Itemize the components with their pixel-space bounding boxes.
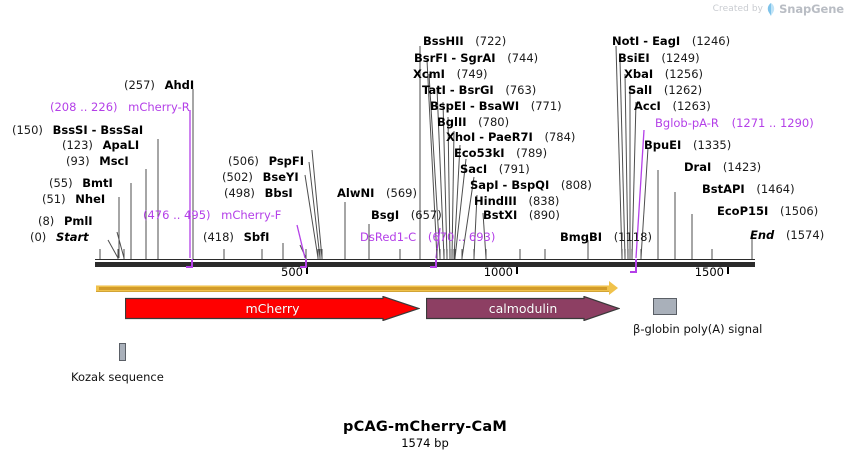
feature-beta-globin-polya-box[interactable]: [653, 298, 677, 315]
site-label-msci[interactable]: (93) MscI: [66, 155, 129, 167]
backbone-hairline: [95, 259, 755, 260]
site-position: (789): [516, 146, 547, 160]
site-label-pmli[interactable]: (8) PmlI: [38, 215, 93, 227]
axis-tick-500: [306, 267, 308, 274]
site-name: EcoP15I: [717, 204, 768, 218]
site-name: XcmI: [413, 67, 445, 81]
site-name: BssHII: [423, 34, 464, 48]
site-name: Start: [56, 230, 89, 244]
site-position: (791): [499, 162, 530, 176]
site-name: BstXI: [483, 208, 517, 222]
site-label-tati-bsrgi[interactable]: TatI - BsrGI (763): [422, 84, 536, 96]
site-position: (1574): [786, 228, 824, 242]
site-label-bmti[interactable]: (55) BmtI: [49, 177, 113, 189]
site-position: (506): [228, 154, 259, 168]
snapgene-leaf-icon: [767, 3, 775, 16]
site-label-bsrfi-sgrai[interactable]: BsrFI - SgrAI (744): [414, 52, 538, 64]
site-name: MscI: [99, 154, 128, 168]
feature-kozak-label: Kozak sequence: [71, 370, 164, 384]
site-name: SacI: [460, 162, 487, 176]
site-position: (744): [507, 51, 538, 65]
site-position: (1246): [692, 34, 730, 48]
site-name: HindIII: [474, 194, 517, 208]
site-position: (55): [49, 176, 73, 190]
site-name: DraI: [684, 160, 711, 174]
site-label-bsgi[interactable]: BsgI (657): [371, 209, 442, 221]
primer-label-dsred1-c[interactable]: DsRed1-C (670 .. 693): [360, 231, 495, 243]
site-name: BstAPI: [702, 182, 745, 196]
site-name: AccI: [634, 99, 661, 113]
site-name: SapI - BspQI: [470, 178, 549, 192]
site-label-acci[interactable]: AccI (1263): [634, 100, 711, 112]
feature-beta-globin-polya-label: β-globin poly(A) signal: [633, 322, 762, 336]
site-position: (1464): [756, 182, 794, 196]
site-name: PspFI: [269, 154, 304, 168]
site-name: BsgI: [371, 208, 399, 222]
axis-tick-1000: [516, 267, 518, 274]
feature-mcherry-label: mCherry: [246, 301, 300, 316]
site-label-sali[interactable]: SalI (1262): [628, 84, 702, 96]
site-name: XbaI: [624, 67, 653, 81]
site-position: (418): [203, 230, 234, 244]
feature-mcherry[interactable]: mCherry: [125, 296, 420, 321]
site-name: BpuEI: [644, 138, 681, 152]
site-position: (93): [66, 154, 90, 168]
site-position: (808): [561, 178, 592, 192]
plasmid-title: pCAG-mCherry-CaM: [0, 419, 850, 435]
site-label-bbsi[interactable]: (498) BbsI: [224, 187, 293, 199]
site-position: (1335): [693, 138, 731, 152]
site-name: BseYI: [263, 170, 299, 184]
site-name: ApaLI: [103, 138, 140, 152]
site-label-apali[interactable]: (123) ApaLI: [62, 139, 139, 151]
primer-label-mcherry-r[interactable]: (208 .. 226) mCherry-R: [50, 101, 190, 113]
site-label-bsiei[interactable]: BsiEI (1249): [618, 52, 700, 64]
site-position: (569): [386, 186, 417, 200]
site-name: BbsI: [265, 186, 293, 200]
site-position: (1263): [672, 99, 710, 113]
feature-calmodulin-label: calmodulin: [489, 301, 558, 316]
site-label-bseyi[interactable]: (502) BseYI: [222, 171, 299, 183]
site-position: (502): [222, 170, 253, 184]
site-label-sbfi[interactable]: (418) SbfI: [203, 231, 269, 243]
site-position: (1506): [780, 204, 818, 218]
site-position: (657): [411, 208, 442, 222]
site-label-sapi-bspqi[interactable]: SapI - BspQI (808): [470, 179, 592, 191]
site-position: (257): [124, 78, 155, 92]
site-name: Eco53kI: [454, 146, 505, 160]
plasmid-length: 1574 bp: [0, 436, 850, 450]
site-label-saci[interactable]: SacI (791): [460, 163, 530, 175]
site-position: (890): [529, 208, 560, 222]
site-label-pspfi[interactable]: (506) PspFI: [228, 155, 304, 167]
site-position: (1249): [661, 51, 699, 65]
site-label-bmgbi[interactable]: BmgBI (1118): [560, 231, 652, 243]
site-label-noti-eagi[interactable]: NotI - EagI (1246): [612, 35, 730, 47]
site-label-bsshii[interactable]: BssHII (722): [423, 35, 506, 47]
site-name: BsiEI: [618, 51, 650, 65]
snapgene-brand: SnapGene: [779, 2, 844, 16]
site-label-bglii[interactable]: BglII (780): [437, 116, 509, 128]
feature-kozak-box[interactable]: [119, 343, 126, 361]
site-label-bpuei[interactable]: BpuEI (1335): [644, 139, 731, 151]
credit-prefix: Created by: [713, 4, 764, 14]
site-name: AhdI: [165, 78, 195, 92]
site-label-ecop15i[interactable]: EcoP15I (1506): [717, 205, 818, 217]
site-position: (771): [531, 99, 562, 113]
site-label-eco53ki[interactable]: Eco53kI (789): [454, 147, 547, 159]
site-position: (1262): [664, 83, 702, 97]
site-name: BglII: [437, 115, 467, 129]
site-name: NotI - EagI: [612, 34, 680, 48]
site-label-drai[interactable]: DraI (1423): [684, 161, 761, 173]
site-position: (8): [38, 214, 54, 228]
primer-label-bglob-pa-r[interactable]: Bglob-pA-R (1271 .. 1290): [655, 117, 814, 129]
site-position: (0): [30, 230, 46, 244]
primer-range: (1271 .. 1290): [732, 116, 814, 130]
site-position: (784): [545, 130, 576, 144]
site-position: (498): [224, 186, 255, 200]
primer-name: Bglob-pA-R: [655, 116, 719, 130]
axis-label-1000: 1000: [484, 265, 515, 279]
site-label-bsssi-bsssai[interactable]: (150) BssSI - BssSaI: [12, 124, 143, 136]
site-name: AlwNI: [337, 186, 374, 200]
axis-tick-1500: [727, 267, 729, 274]
site-position: (763): [505, 83, 536, 97]
feature-calmodulin[interactable]: calmodulin: [426, 296, 620, 321]
site-name: BssSI - BssSaI: [53, 123, 144, 137]
transcript-arrow-core: [99, 287, 607, 290]
site-label-bstxi[interactable]: BstXI (890): [483, 209, 560, 221]
primer-label-mcherry-f[interactable]: (476 .. 495) mCherry-F: [143, 209, 281, 221]
site-name: BmtI: [82, 176, 113, 190]
site-name: End: [750, 228, 774, 242]
axis-label-1500: 1500: [695, 265, 726, 279]
site-name: BmgBI: [560, 230, 602, 244]
site-name: TatI - BsrGI: [422, 83, 494, 97]
primer-range: (476 .. 495): [143, 208, 211, 222]
site-label-xbai[interactable]: XbaI (1256): [624, 68, 703, 80]
site-position: (838): [528, 194, 559, 208]
transcript-arrow-head: [609, 281, 618, 295]
site-label-end[interactable]: End (1574): [750, 229, 824, 241]
site-position: (150): [12, 123, 43, 137]
site-label-xhoi-paer7i[interactable]: XhoI - PaeR7I (784): [446, 131, 575, 143]
site-position: (722): [475, 34, 506, 48]
site-name: PmlI: [64, 214, 93, 228]
site-label-nhei[interactable]: (51) NheI: [42, 193, 105, 205]
snapgene-credit: Created by SnapGene: [713, 2, 844, 16]
axis-label-500: 500: [281, 265, 305, 279]
primer-name: mCherry-R: [128, 100, 190, 114]
primer-name: mCherry-F: [221, 208, 281, 222]
plasmid-backbone: [95, 262, 755, 267]
plasmid-map-canvas: Created by SnapGene: [0, 0, 850, 458]
site-name: BsrFI - SgrAI: [414, 51, 496, 65]
primer-range: (208 .. 226): [50, 100, 118, 114]
site-position: (780): [478, 115, 509, 129]
site-name: SbfI: [244, 230, 270, 244]
site-label-start[interactable]: (0) Start: [30, 231, 89, 243]
primer-range: (670 .. 693): [428, 230, 496, 244]
site-label-alwni[interactable]: AlwNI (569): [337, 187, 417, 199]
site-position: (1118): [614, 230, 652, 244]
site-position: (749): [457, 67, 488, 81]
site-label-ahdi[interactable]: (257) AhdI: [124, 79, 194, 91]
site-name: SalI: [628, 83, 652, 97]
site-name: XhoI - PaeR7I: [446, 130, 533, 144]
site-position: (1256): [665, 67, 703, 81]
site-name: NheI: [75, 192, 105, 206]
site-label-bspei-bsawi[interactable]: BspEI - BsaWI (771): [430, 100, 562, 112]
site-name: BspEI - BsaWI: [430, 99, 519, 113]
site-label-xcmi[interactable]: XcmI (749): [413, 68, 488, 80]
site-position: (51): [42, 192, 66, 206]
site-position: (123): [62, 138, 93, 152]
site-label-bstapi[interactable]: BstAPI (1464): [702, 183, 795, 195]
primer-name: DsRed1-C: [360, 230, 416, 244]
site-label-hindiii[interactable]: HindIII (838): [474, 195, 559, 207]
site-position: (1423): [723, 160, 761, 174]
